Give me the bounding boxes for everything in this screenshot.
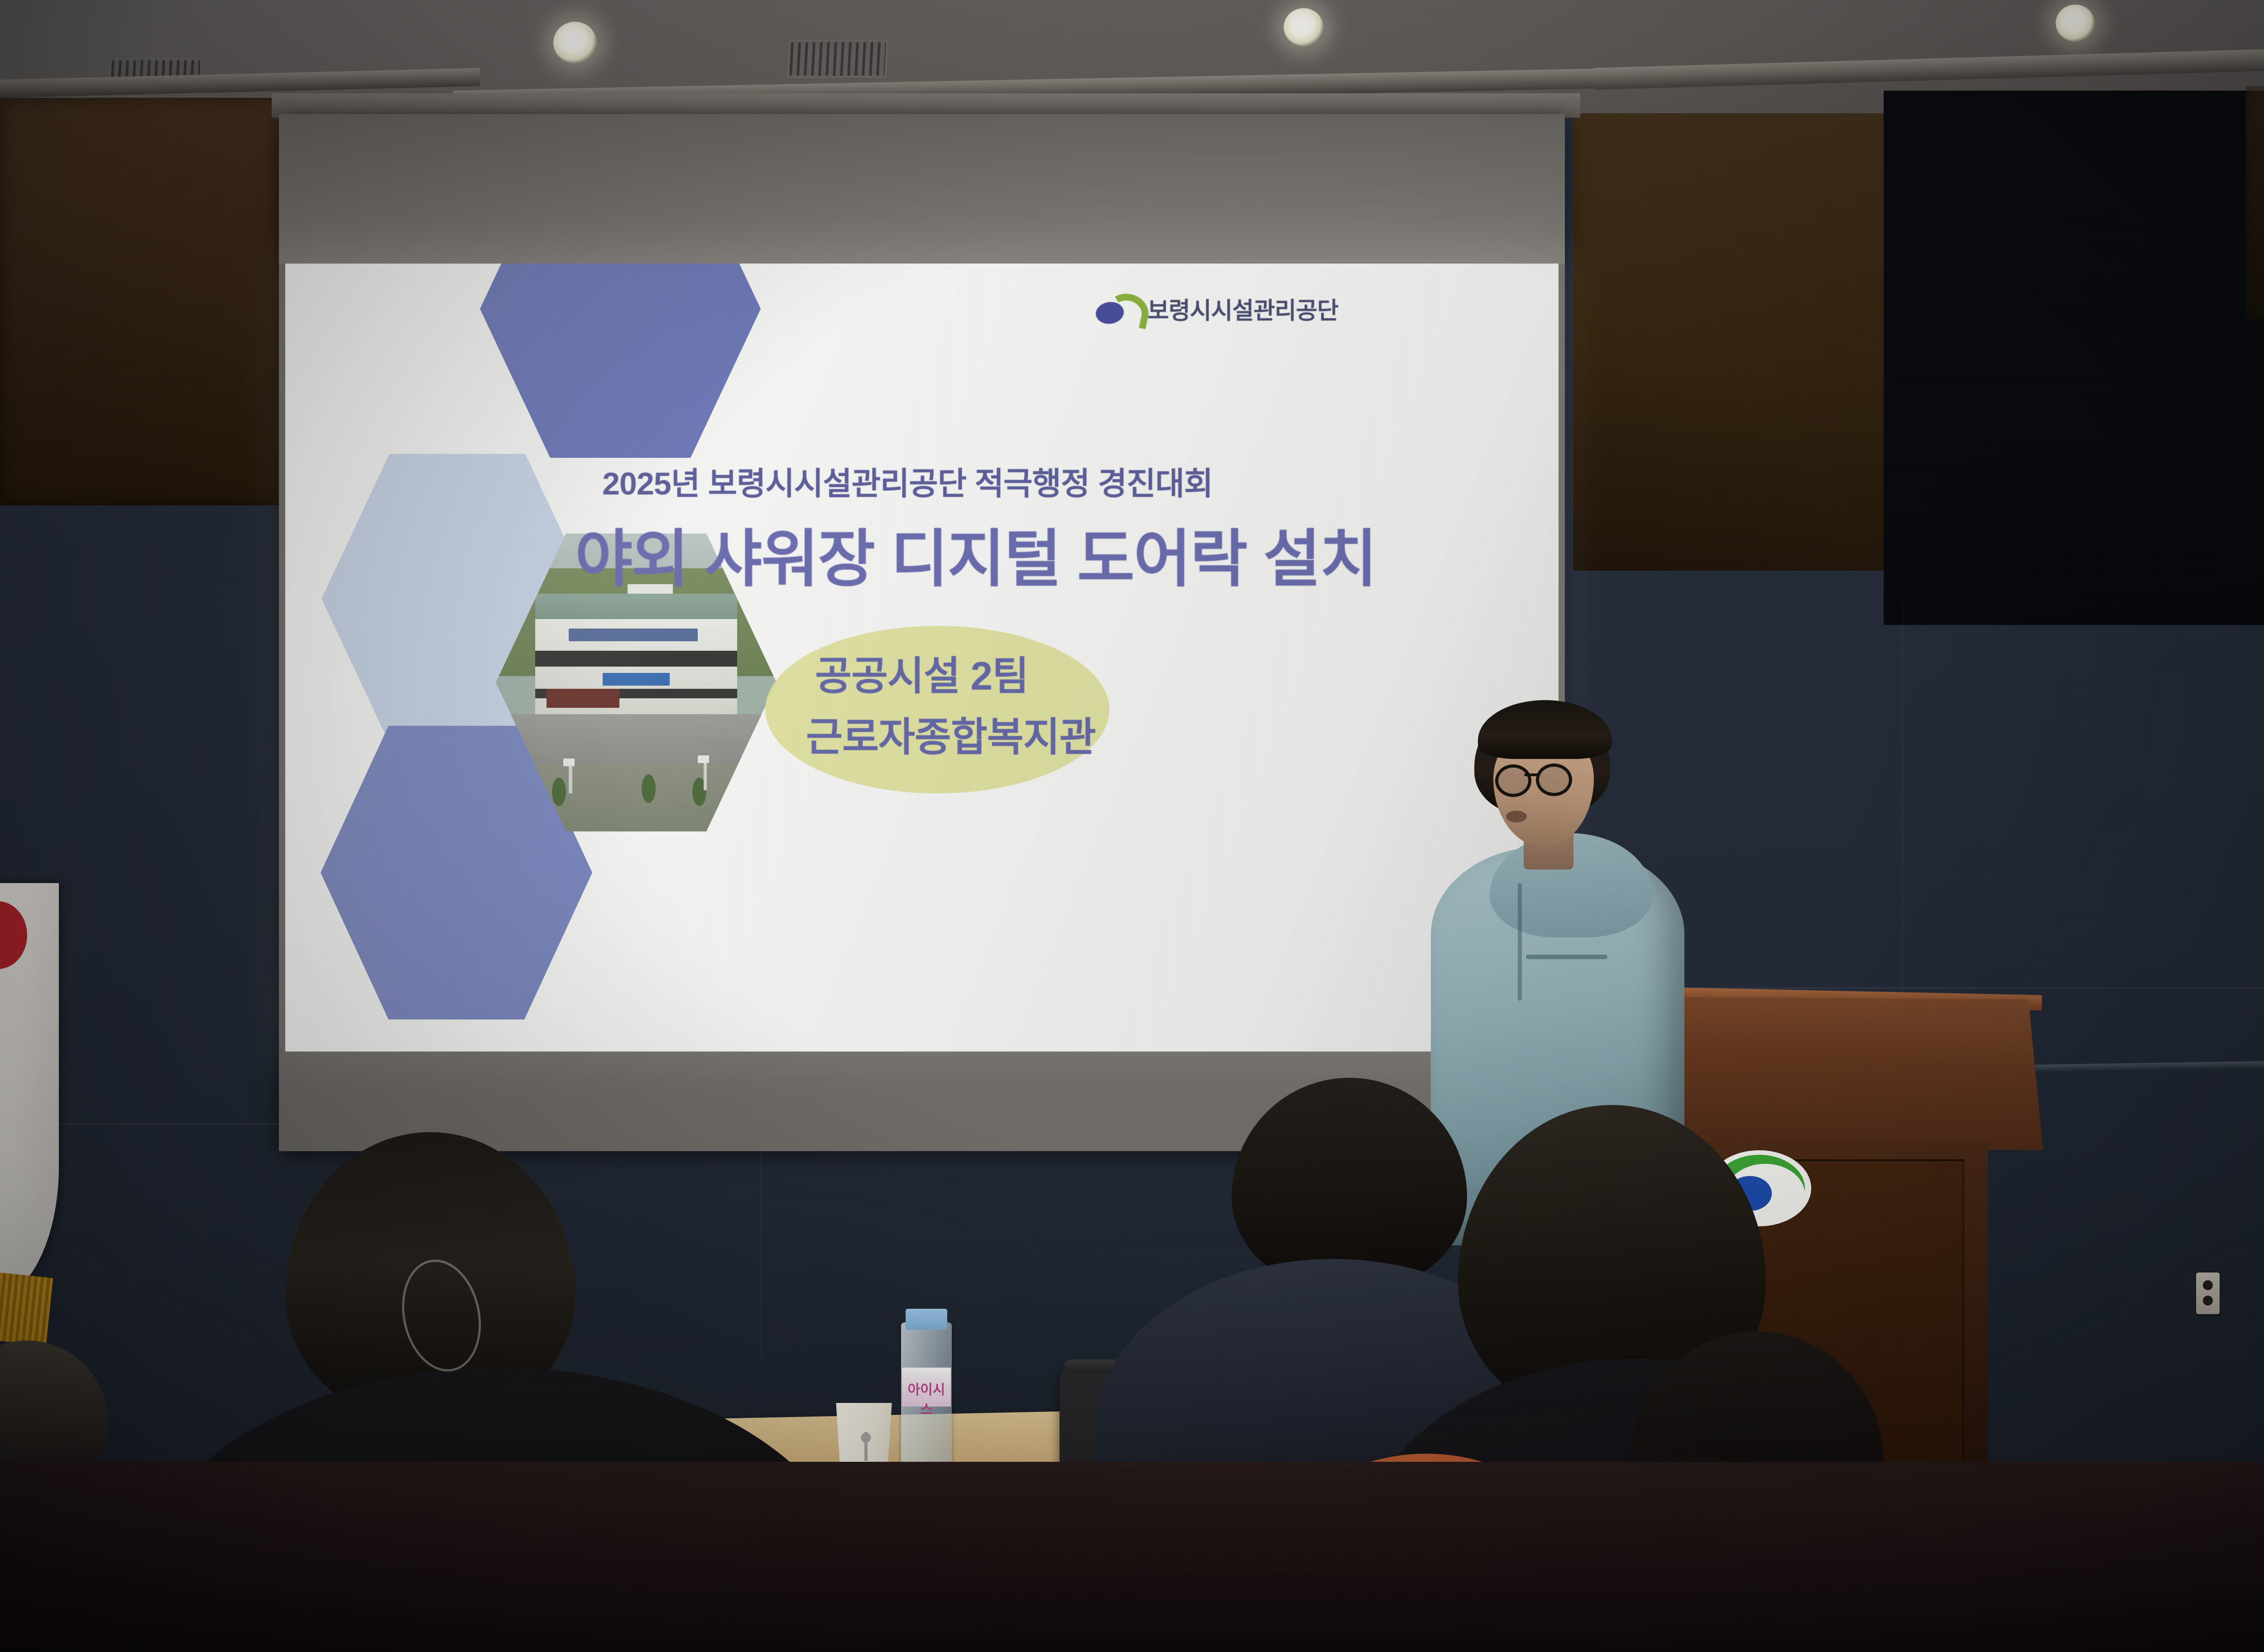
projected-slide: 보령시시설관리공단 2025년 보령시시설관리공단 적극행정 경진대회 야외 샤… (285, 264, 1559, 1052)
presenter-eyeglasses-icon (1495, 764, 1531, 797)
ceiling-downlight-icon (1284, 8, 1324, 46)
projection-screen-unlit-area (279, 114, 1565, 264)
slide-team-line-1: 공공시설 2팀 (815, 644, 1028, 701)
bottle-label-text: 아이시스 (902, 1368, 951, 1418)
projection-screen: 보령시시설관리공단 2025년 보령시시설관리공단 적극행정 경진대회 야외 샤… (279, 114, 1565, 1151)
water-bottle-label: 아이시스 (902, 1368, 951, 1407)
organization-logo: 보령시시설관리공단 (1096, 292, 1338, 326)
flag-fringe (0, 1267, 53, 1345)
hex-decoration-dark (480, 264, 761, 467)
power-outlet-icon (2196, 1273, 2220, 1314)
ceiling-downlight-icon (2056, 5, 2095, 42)
slide-main-title: 야외 샤워장 디지털 도어락 설치 (575, 508, 1377, 599)
logo-wordmark: 보령시시설관리공단 (1147, 292, 1338, 326)
presenter-hair-fringe (1478, 700, 1612, 759)
wall-dark-right-recess (1884, 91, 2264, 625)
presenter-eyeglasses-icon (1536, 764, 1572, 796)
water-bottle-cap (906, 1309, 947, 1330)
logo-mark-icon (1096, 294, 1139, 324)
floor (0, 1462, 2264, 1652)
presenter-mouth (1506, 811, 1527, 822)
presenter-jacket-pocket (1526, 955, 1607, 959)
slide-team-line-2: 근로자종합복지관 (806, 705, 1096, 763)
air-vent-icon (787, 40, 888, 78)
wood-panel-right (1573, 113, 1885, 571)
presenter-eyeglasses-bridge (1524, 773, 1539, 776)
presenter-jacket-zipper (1518, 883, 1522, 1001)
ceiling-downlight-icon (553, 22, 597, 63)
wood-column-far-right (2246, 86, 2264, 322)
slide-eyebrow-text: 2025년 보령시시설관리공단 적극행정 경진대회 (602, 458, 1213, 504)
wall-seam-horizontal (54, 1123, 308, 1125)
wood-column-left (0, 98, 299, 505)
photograph-scene: 보령시시설관리공단 2025년 보령시시설관리공단 적극행정 경진대회 야외 샤… (0, 0, 2264, 1652)
